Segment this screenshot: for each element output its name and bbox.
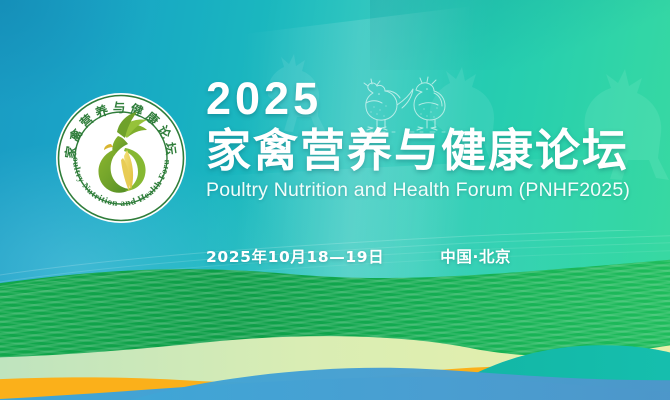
title-english: Poultry Nutrition and Health Forum (PNHF… (206, 179, 626, 202)
event-location: 中国·北京 (440, 245, 511, 267)
event-date: 2025年10月18—19日 (206, 245, 384, 267)
title-chinese: 家禽营养与健康论坛 (206, 127, 626, 174)
forum-logo: 家禽营养与健康论坛 Poultry Nutrition and Health F… (55, 92, 187, 224)
title-block: 2025 家禽营养与健康论坛 Poultry Nutrition and Hea… (206, 76, 626, 202)
event-meta: 2025年10月18—19日 中国·北京 (206, 245, 511, 267)
year-label: 2025 (206, 76, 626, 121)
sky-top-right-shade (370, 0, 670, 70)
conference-banner: 家禽营养与健康论坛 Poultry Nutrition and Health F… (0, 0, 670, 400)
